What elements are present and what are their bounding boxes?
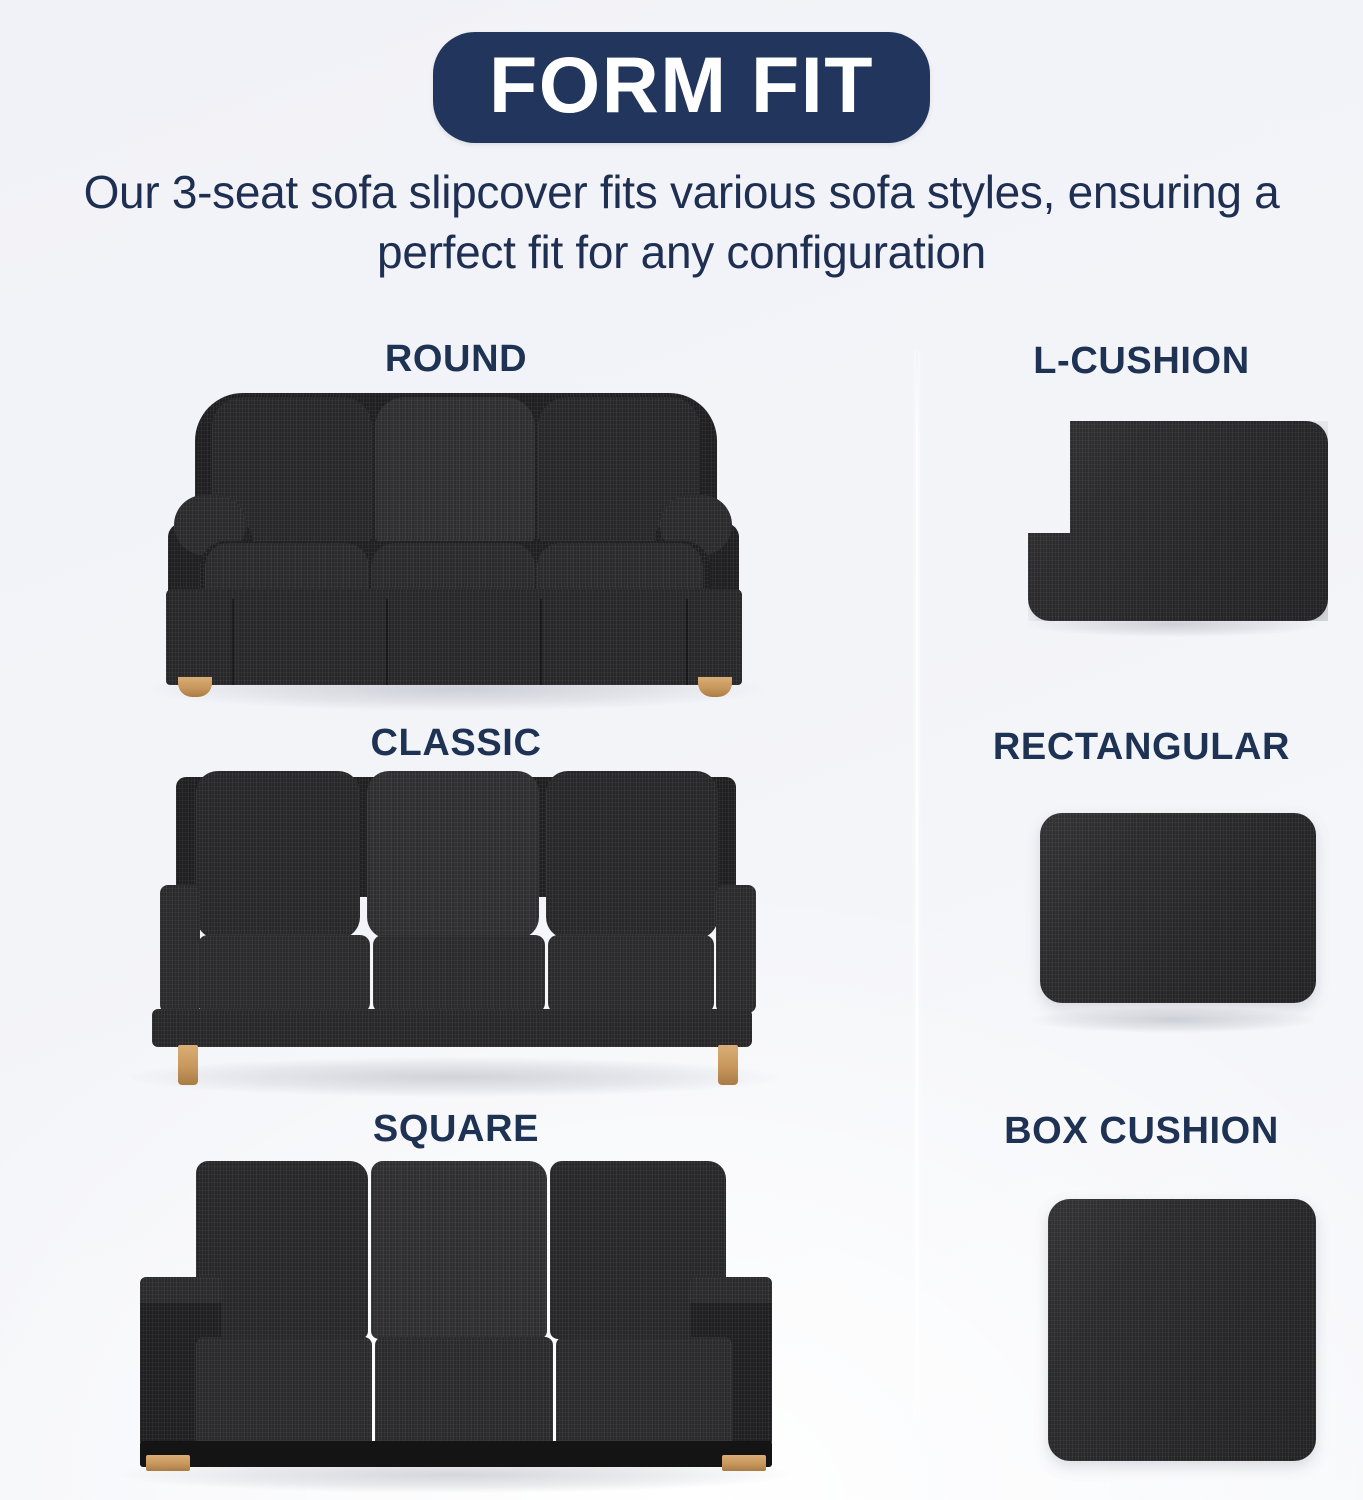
cushion-style-rectangular: RECTANGULAR xyxy=(920,726,1363,1039)
classic-wood-leg-left xyxy=(178,1045,198,1085)
classic-seat-cushion xyxy=(373,935,545,1013)
cushion-style-box-cushion: BOX CUSHION xyxy=(920,1110,1363,1483)
rectangular-cushion-illustration xyxy=(920,769,1363,1039)
square-sofa-illustration xyxy=(0,1151,912,1487)
square-block-foot-left xyxy=(146,1455,190,1471)
square-back-cushion xyxy=(371,1161,547,1339)
sofa-style-round: ROUND xyxy=(0,338,912,711)
l-cushion-sheen xyxy=(1028,421,1328,621)
round-skirt-seam xyxy=(386,599,388,685)
classic-back-cushion xyxy=(546,771,718,939)
round-sofa-illustration xyxy=(0,381,912,711)
round-seat-cushion xyxy=(371,543,535,595)
l-shaped-cushion-icon xyxy=(1028,421,1328,621)
square-seat-cushion xyxy=(556,1337,732,1449)
cushion-style-l-cushion-label: L-CUSHION xyxy=(920,340,1363,383)
square-seat-cushion xyxy=(196,1337,372,1449)
classic-sofa-shadow xyxy=(130,1057,780,1097)
classic-track-arm-left xyxy=(160,885,200,1013)
square-seat-cushion xyxy=(375,1337,553,1449)
column-divider xyxy=(916,352,918,1422)
square-base-rail xyxy=(140,1441,772,1467)
header: FORM FIT Our 3-seat sofa slipcover fits … xyxy=(0,0,1363,283)
rectangular-cushion-shadow xyxy=(1030,1007,1316,1033)
classic-seat-cushion xyxy=(548,935,714,1013)
round-seat-cushion xyxy=(537,543,703,595)
classic-seat-cushion xyxy=(198,935,370,1013)
round-skirt-seam xyxy=(232,599,234,685)
classic-track-arm-right xyxy=(716,885,756,1013)
box-cushion-icon xyxy=(1048,1199,1316,1461)
box-cushion-sheen xyxy=(1048,1199,1316,1461)
box-cushion-illustration xyxy=(920,1153,1363,1483)
round-skirt-seam xyxy=(686,599,688,685)
classic-base-plinth xyxy=(152,1009,752,1047)
rectangular-cushion-icon xyxy=(1040,813,1316,1003)
square-arm-top-right xyxy=(690,1277,772,1303)
classic-back-cushion xyxy=(367,771,539,939)
square-arm-top-left xyxy=(140,1277,222,1303)
square-block-foot-right xyxy=(722,1455,766,1471)
round-seat-cushion xyxy=(205,543,369,595)
l-cushion-illustration xyxy=(920,383,1363,643)
cushion-style-l-cushion: L-CUSHION xyxy=(920,340,1363,643)
sofa-style-square-label: SQUARE xyxy=(0,1108,912,1151)
classic-wood-leg-right xyxy=(718,1045,738,1085)
classic-sofa-illustration xyxy=(0,765,912,1095)
rectangular-cushion-sheen xyxy=(1040,813,1316,1003)
round-skirt xyxy=(166,589,742,685)
subtitle-text: Our 3-seat sofa slipcover fits various s… xyxy=(0,163,1363,283)
form-fit-badge: FORM FIT xyxy=(433,32,930,143)
sofa-style-classic-label: CLASSIC xyxy=(0,722,912,765)
sofa-style-square: SQUARE xyxy=(0,1108,912,1487)
classic-back-cushion xyxy=(196,771,360,939)
round-skirt-seam xyxy=(540,599,542,685)
sofa-style-classic: CLASSIC xyxy=(0,722,912,1095)
round-back-cushion xyxy=(375,397,535,545)
cushion-style-rectangular-label: RECTANGULAR xyxy=(920,726,1363,769)
badge-title: FORM FIT xyxy=(489,46,874,123)
cushion-style-box-cushion-label: BOX CUSHION xyxy=(920,1110,1363,1153)
sofa-style-round-label: ROUND xyxy=(0,338,912,381)
